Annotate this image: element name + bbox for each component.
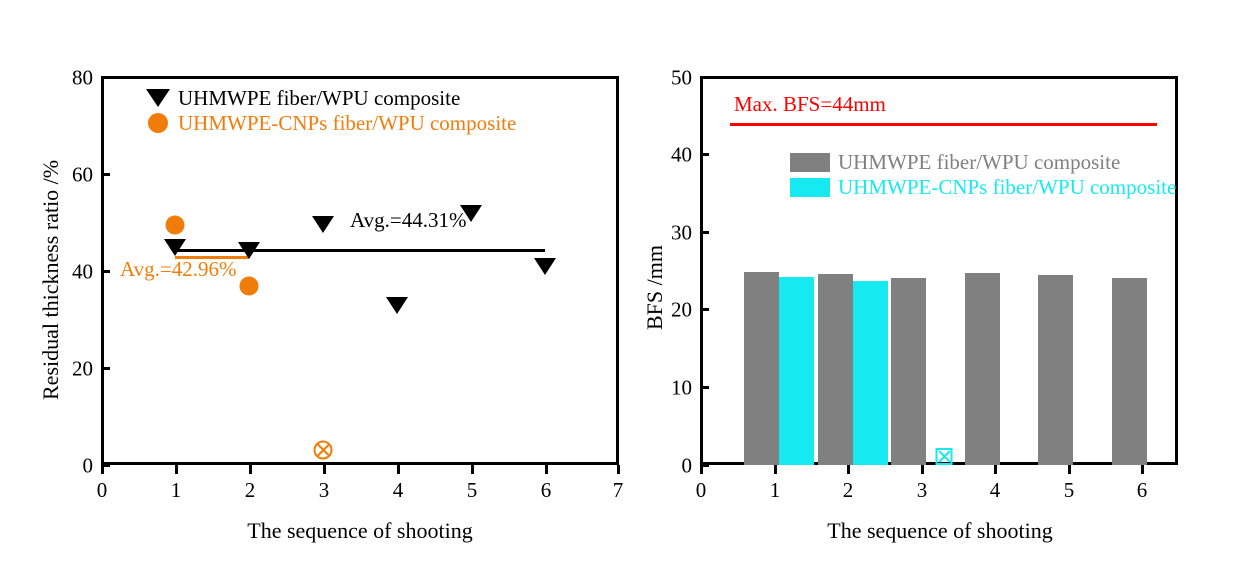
y-label-right-50: 50 (655, 66, 692, 91)
y-label-left-80: 80 (58, 66, 93, 91)
x-label-left-7: 7 (613, 478, 624, 503)
bar-gray-6 (1112, 278, 1147, 465)
data-point-triangle-4 (386, 297, 408, 314)
figure-container: 0 20 40 60 80 0 1 2 3 4 5 6 7 The sequen… (0, 0, 1251, 576)
legend-label-uhmwpe-cnps-bar: UHMWPE-CNPs fiber/WPU composite (838, 175, 1176, 200)
y-label-right-10: 10 (655, 376, 692, 401)
data-point-circle-1 (166, 216, 185, 235)
x-tick-right-1 (774, 465, 777, 474)
x-label-right-5: 5 (1064, 478, 1075, 503)
x-label-right-6: 6 (1137, 478, 1148, 503)
bar-gray-1 (744, 272, 779, 465)
x-label-left-5: 5 (467, 478, 478, 503)
x-tick-left-5 (471, 465, 474, 474)
x-tick-right-4 (994, 465, 997, 474)
bar-gray-2 (818, 274, 853, 465)
data-point-triangle-3 (312, 216, 334, 233)
bar-cyan-2 (853, 281, 888, 465)
y-tick-left-40 (101, 270, 110, 273)
y-tick-right-40 (700, 153, 709, 156)
legend-label-uhmwpe: UHMWPE fiber/WPU composite (178, 86, 460, 111)
x-axis-title-right: The sequence of shooting (827, 518, 1052, 544)
x-tick-right-0 (700, 465, 703, 474)
x-tick-left-6 (545, 465, 548, 474)
data-point-triangle-6 (534, 258, 556, 275)
x-tick-left-3 (323, 465, 326, 474)
x-tick-left-7 (617, 465, 620, 474)
y-label-right-0: 0 (655, 454, 692, 479)
avg-line-black (175, 249, 545, 252)
x-label-right-1: 1 (770, 478, 781, 503)
y-label-right-40: 40 (655, 143, 692, 168)
y-tick-right-30 (700, 231, 709, 234)
data-point-failure-circle-3 (314, 441, 333, 460)
legend-label-uhmwpe-bar: UHMWPE fiber/WPU composite (838, 150, 1120, 175)
max-bfs-label: Max. BFS=44mm (734, 92, 886, 117)
legend-item-uhmwpe: UHMWPE fiber/WPU composite (138, 86, 516, 110)
legend-left: UHMWPE fiber/WPU composite UHMWPE-CNPs f… (138, 86, 516, 136)
y-axis-title-left: Residual thickness ratio /% (38, 160, 64, 400)
y-tick-left-80 (101, 76, 110, 79)
x-label-right-3: 3 (917, 478, 928, 503)
y-tick-right-50 (700, 76, 709, 79)
y-tick-left-60 (101, 173, 110, 176)
x-tick-left-1 (175, 465, 178, 474)
x-tick-right-5 (1068, 465, 1071, 474)
y-label-left-0: 0 (58, 454, 93, 479)
data-point-triangle-1 (164, 239, 186, 256)
gray-bar-swatch-icon (790, 153, 830, 172)
cyan-bar-swatch-icon (790, 178, 830, 197)
y-tick-left-20 (101, 367, 110, 370)
avg-black-label: Avg.=44.31% (350, 208, 466, 233)
x-tick-left-2 (249, 465, 252, 474)
bar-gray-3 (891, 278, 926, 465)
panel-bfs: 0 10 20 30 40 50 0 1 2 3 4 5 6 The seque… (630, 0, 1251, 576)
x-label-right-0: 0 (696, 478, 707, 503)
x-tick-right-3 (921, 465, 924, 474)
x-tick-right-6 (1141, 465, 1144, 474)
down-triangle-marker-icon (138, 89, 178, 107)
legend-item-uhmwpe-cnps-bar: UHMWPE-CNPs fiber/WPU composite (790, 175, 1176, 199)
legend-right: UHMWPE fiber/WPU composite UHMWPE-CNPs f… (790, 150, 1176, 200)
x-label-left-6: 6 (541, 478, 552, 503)
data-point-circle-2 (240, 277, 259, 296)
x-label-left-1: 1 (171, 478, 182, 503)
x-tick-left-0 (101, 465, 104, 474)
bar-cyan-failure-3 (936, 448, 953, 465)
legend-item-uhmwpe-cnps: UHMWPE-CNPs fiber/WPU composite (138, 111, 516, 135)
x-label-left-4: 4 (393, 478, 404, 503)
bar-gray-5 (1038, 275, 1073, 465)
x-tick-right-2 (847, 465, 850, 474)
x-label-left-2: 2 (245, 478, 256, 503)
x-axis-title-left: The sequence of shooting (247, 518, 472, 544)
x-label-left-3: 3 (319, 478, 330, 503)
x-tick-left-4 (397, 465, 400, 474)
bar-cyan-1 (779, 277, 814, 465)
data-point-triangle-2 (238, 242, 260, 259)
x-label-right-2: 2 (843, 478, 854, 503)
avg-orange-label: Avg.=42.96% (120, 257, 236, 282)
panel-residual-thickness: 0 20 40 60 80 0 1 2 3 4 5 6 7 The sequen… (0, 0, 630, 576)
circle-marker-icon (138, 113, 178, 133)
legend-label-uhmwpe-cnps: UHMWPE-CNPs fiber/WPU composite (178, 111, 516, 136)
max-bfs-reference-line (730, 123, 1157, 126)
y-axis-title-right: BFS /mm (642, 245, 668, 330)
data-point-triangle-5 (460, 205, 482, 222)
x-label-right-4: 4 (990, 478, 1001, 503)
y-tick-right-10 (700, 386, 709, 389)
y-label-right-30: 30 (655, 221, 692, 246)
bar-gray-4 (965, 273, 1000, 465)
legend-item-uhmwpe-bar: UHMWPE fiber/WPU composite (790, 150, 1176, 174)
y-tick-right-20 (700, 308, 709, 311)
x-label-left-0: 0 (97, 478, 108, 503)
